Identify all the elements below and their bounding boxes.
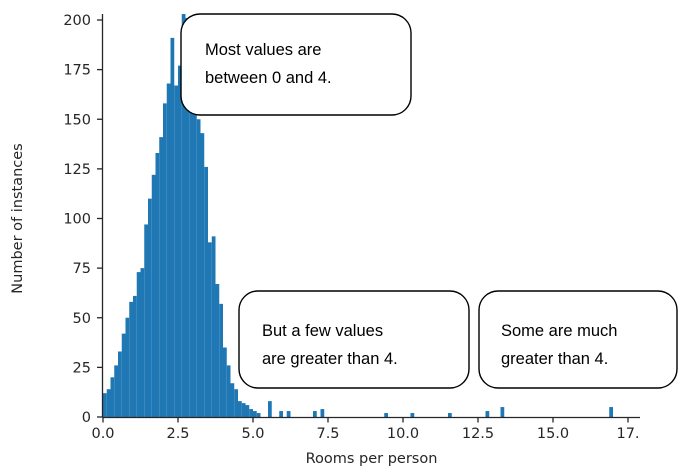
y-axis-label: Number of instances bbox=[10, 143, 26, 293]
y-tick-label: 100 bbox=[63, 212, 91, 228]
histogram-bar bbox=[313, 411, 317, 417]
histogram-bar bbox=[204, 167, 208, 417]
x-tick-label: 12.5 bbox=[462, 426, 494, 442]
histogram-bar bbox=[609, 407, 613, 417]
histogram-bar bbox=[219, 304, 223, 417]
x-tick-label: 17. bbox=[616, 426, 639, 442]
histogram-bar bbox=[174, 86, 178, 418]
callout-most-values-line2: between 0 and 4. bbox=[205, 69, 332, 87]
histogram-bar bbox=[212, 236, 216, 417]
histogram-bar bbox=[133, 296, 137, 417]
histogram-bar bbox=[448, 413, 452, 417]
histogram-bar bbox=[501, 407, 505, 417]
histogram-figure: 0.02.55.07.510.012.515.017. 025507510012… bbox=[0, 0, 690, 472]
histogram-bar bbox=[148, 199, 152, 417]
histogram-svg: 0.02.55.07.510.012.515.017. 025507510012… bbox=[0, 0, 690, 472]
callout-few-values-line1: But a few values bbox=[262, 322, 383, 340]
x-tick-label: 5.0 bbox=[241, 426, 264, 442]
histogram-bar bbox=[122, 334, 126, 417]
y-tick-label: 25 bbox=[73, 360, 91, 376]
histogram-bar bbox=[384, 413, 388, 417]
histogram-bar bbox=[287, 411, 291, 417]
histogram-bar bbox=[111, 377, 115, 417]
histogram-bar bbox=[178, 66, 182, 417]
histogram-bar bbox=[279, 411, 283, 417]
histogram-bar bbox=[223, 348, 227, 417]
callout-most-values-box bbox=[181, 14, 411, 115]
y-tick-label: 0 bbox=[82, 410, 91, 426]
x-tick-label: 7.5 bbox=[316, 426, 339, 442]
y-tick-label: 150 bbox=[63, 112, 91, 128]
histogram-bar bbox=[234, 389, 238, 417]
y-tick-label: 75 bbox=[73, 261, 91, 277]
histogram-bar bbox=[253, 411, 257, 417]
histogram-bar bbox=[103, 393, 107, 417]
histogram-bar bbox=[152, 175, 156, 417]
callout-most-values-line1: Most values are bbox=[205, 41, 321, 59]
histogram-bar bbox=[201, 133, 205, 417]
callout-much-greater-line1: Some are much bbox=[501, 322, 617, 340]
histogram-bar bbox=[171, 38, 175, 417]
histogram-bar bbox=[163, 103, 167, 417]
y-tick-label: 125 bbox=[63, 162, 91, 178]
histogram-bar bbox=[249, 409, 253, 417]
callout-few-values: But a few values are greater than 4. bbox=[239, 291, 469, 388]
histogram-bar bbox=[411, 413, 415, 417]
histogram-bar bbox=[118, 352, 122, 418]
histogram-bar bbox=[321, 409, 325, 417]
histogram-bar bbox=[197, 119, 201, 417]
x-tick-label: 0.0 bbox=[91, 426, 114, 442]
histogram-bar bbox=[257, 413, 261, 417]
histogram-bar bbox=[107, 389, 111, 417]
y-tick-label: 50 bbox=[73, 311, 91, 327]
histogram-bar bbox=[189, 76, 193, 417]
callout-most-values: Most values are between 0 and 4. bbox=[181, 14, 411, 115]
histogram-bar bbox=[231, 383, 235, 417]
callout-much-greater-line2: greater than 4. bbox=[501, 350, 608, 368]
histogram-bar bbox=[159, 137, 163, 417]
histogram-bar bbox=[268, 401, 272, 417]
callout-few-values-line2: are greater than 4. bbox=[262, 350, 398, 368]
histogram-bar bbox=[246, 405, 250, 417]
histogram-bar bbox=[141, 268, 145, 417]
histogram-bar bbox=[216, 284, 220, 417]
histogram-bar bbox=[486, 411, 490, 417]
x-tick-label: 2.5 bbox=[166, 426, 189, 442]
x-tick-label: 15.0 bbox=[537, 426, 569, 442]
histogram-bar bbox=[167, 84, 171, 417]
y-tick-label: 200 bbox=[63, 13, 91, 29]
histogram-bar bbox=[242, 403, 246, 417]
histogram-bar bbox=[129, 302, 133, 417]
histogram-bar bbox=[137, 272, 141, 417]
histogram-bar bbox=[114, 365, 118, 417]
histogram-bar bbox=[208, 242, 212, 417]
histogram-bar bbox=[156, 153, 160, 417]
histogram-bar bbox=[126, 318, 130, 417]
histogram-bar bbox=[144, 224, 148, 417]
histogram-bar bbox=[193, 74, 197, 417]
callout-much-greater: Some are much greater than 4. bbox=[479, 291, 677, 388]
histogram-bar bbox=[227, 365, 231, 417]
x-tick-label: 10.0 bbox=[387, 426, 419, 442]
y-tick-label: 175 bbox=[63, 63, 91, 79]
histogram-bar bbox=[238, 401, 242, 417]
x-axis-label: Rooms per person bbox=[306, 451, 438, 467]
